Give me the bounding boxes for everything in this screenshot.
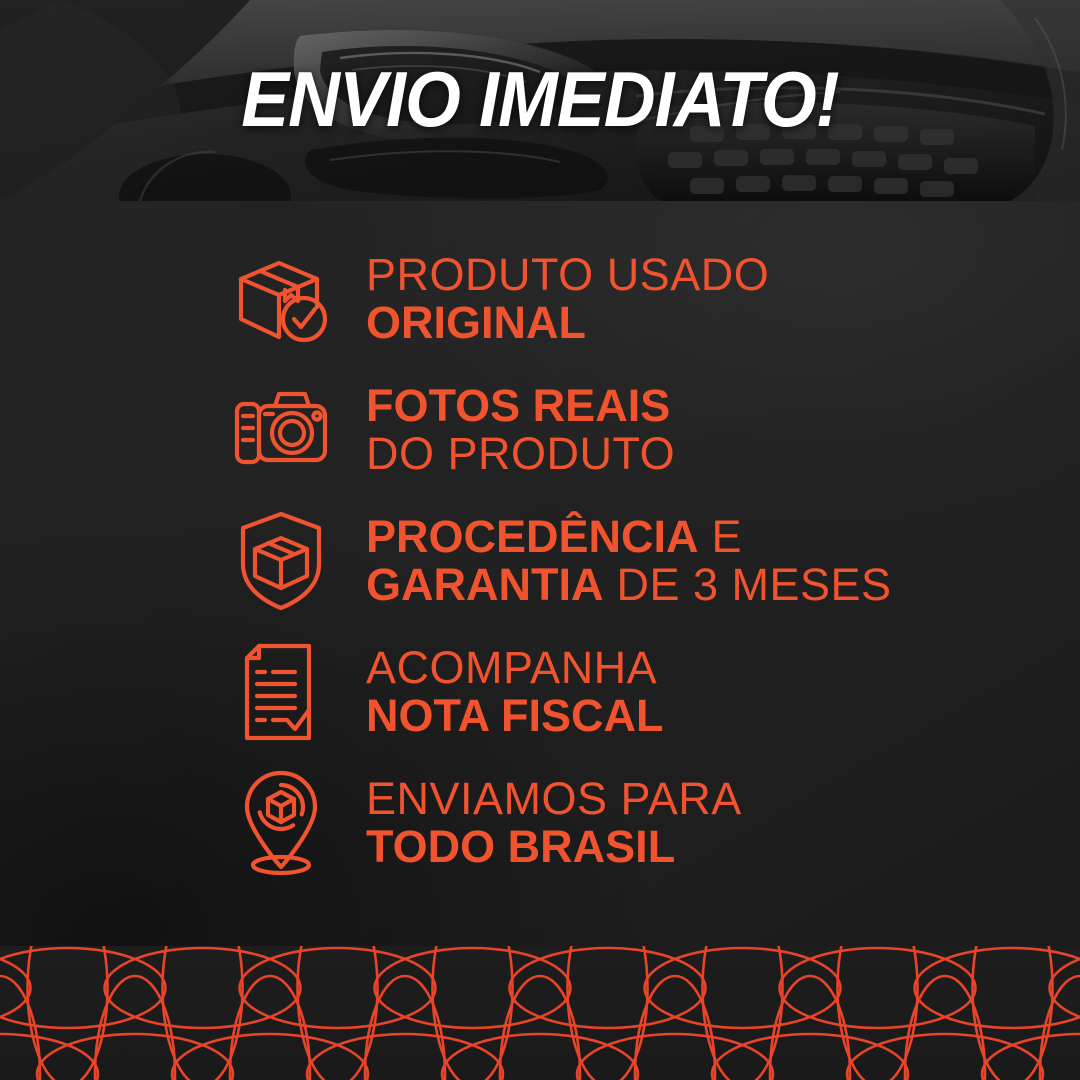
feature-row-nota-fiscal: ACOMPANHA NOTA FISCAL [222, 626, 1080, 757]
feature-line-2-light: DE 3 MESES [603, 559, 891, 610]
feature-line-2: TODO BRASIL [366, 822, 742, 871]
feature-text: ACOMPANHA NOTA FISCAL [366, 643, 663, 740]
feature-line-2-bold: GARANTIA [366, 559, 603, 610]
footer-pattern [0, 946, 1080, 1080]
feature-row-fotos-reais: FOTOS REAIS DO PRODUTO [222, 364, 1080, 495]
feature-text: PRODUTO USADO ORIGINAL [366, 250, 769, 347]
promo-banner: ENVIO IMEDIATO! PROD [0, 0, 1080, 1080]
location-pin-box-icon [222, 768, 340, 878]
feature-row-produto-usado-original: PRODUTO USADO ORIGINAL [222, 233, 1080, 364]
ellipse-lattice-graphic [0, 946, 1080, 1080]
feature-line-1-bold: PROCEDÊNCIA [366, 511, 699, 562]
features-list: PRODUTO USADO ORIGINAL [222, 233, 1080, 888]
feature-line-2: DO PRODUTO [366, 429, 675, 478]
feature-row-procedencia-garantia: PROCEDÊNCIA E GARANTIA DE 3 MESES [222, 495, 1080, 626]
feature-line-2: NOTA FISCAL [366, 691, 663, 740]
feature-line-1: FOTOS REAIS [366, 381, 675, 430]
header-banner: ENVIO IMEDIATO! [0, 0, 1080, 201]
feature-line-1: ENVIAMOS PARA [366, 774, 742, 823]
feature-text: ENVIAMOS PARA TODO BRASIL [366, 774, 742, 871]
feature-line-1: ACOMPANHA [366, 643, 663, 692]
box-check-icon [222, 244, 340, 354]
page-title: ENVIO IMEDIATO! [43, 60, 1037, 138]
document-check-icon [222, 637, 340, 747]
feature-line-1: PROCEDÊNCIA E [366, 512, 892, 561]
feature-line-1-light: E [699, 511, 743, 562]
feature-line-1: PRODUTO USADO [366, 250, 769, 299]
features-section: PRODUTO USADO ORIGINAL [0, 201, 1080, 961]
feature-row-todo-brasil: ENVIAMOS PARA TODO BRASIL [222, 757, 1080, 888]
feature-line-2: ORIGINAL [366, 298, 769, 347]
feature-text: FOTOS REAIS DO PRODUTO [366, 381, 675, 478]
feature-text: PROCEDÊNCIA E GARANTIA DE 3 MESES [366, 512, 892, 609]
feature-line-2: GARANTIA DE 3 MESES [366, 560, 892, 609]
camera-icon [222, 375, 340, 485]
shield-box-icon [222, 506, 340, 616]
